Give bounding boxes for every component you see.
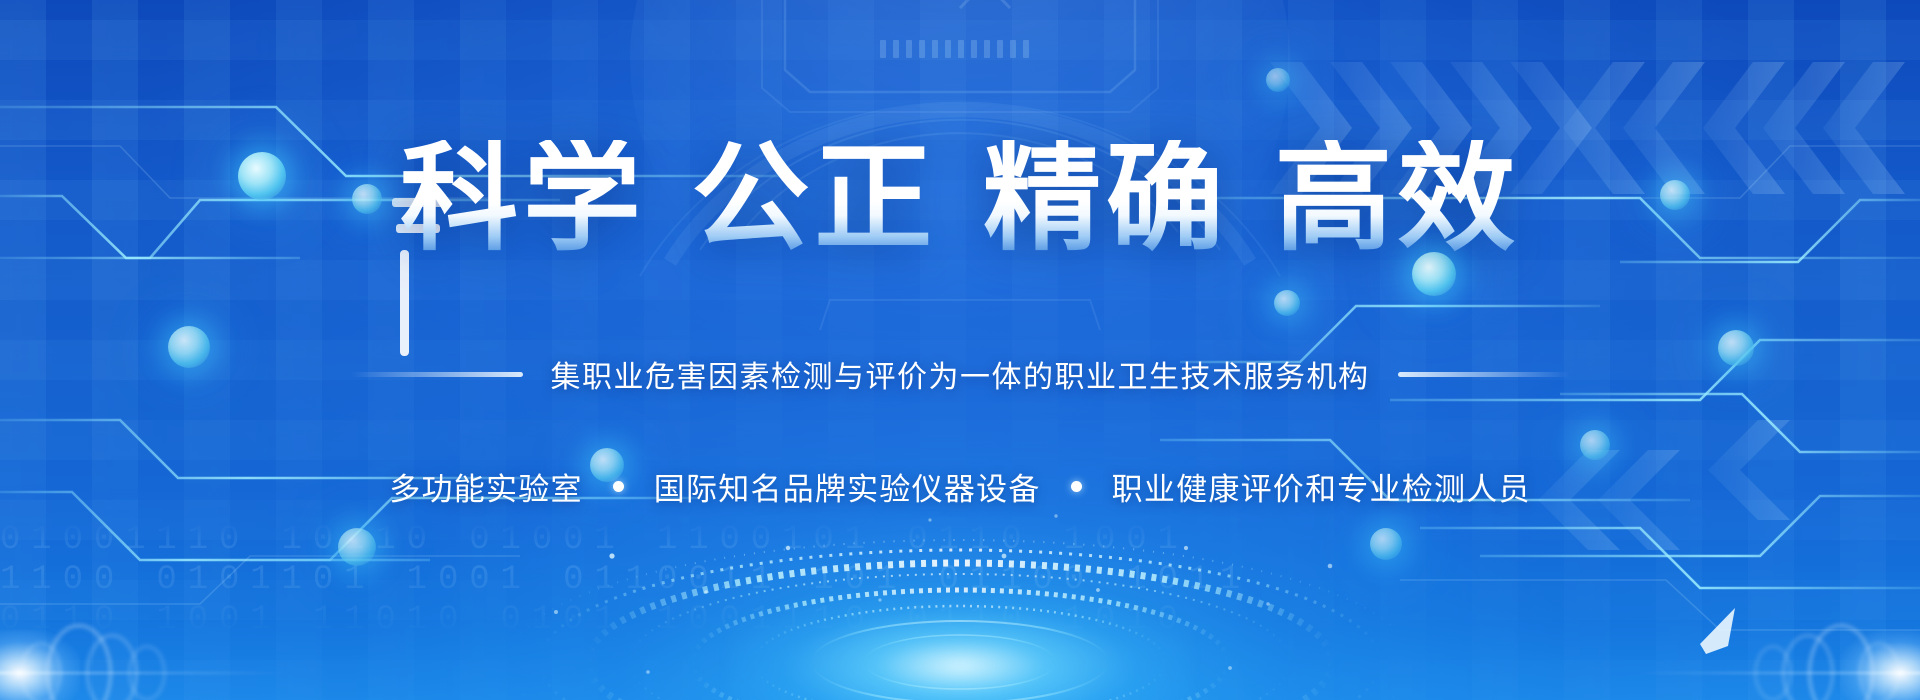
feature-item-3: 职业健康评价和专业检测人员 [1112,464,1531,509]
circuit-node-icon [338,528,376,566]
feature-item-2: 国际知名品牌实验仪器设备 [654,464,1041,509]
headline-word-1: 科学 [400,133,645,265]
banner-root: 01001110 10110 01001 1100101 0110 1001 1… [0,0,1920,700]
subtitle-rule-left [351,372,523,377]
circuit-node-icon [1274,290,1300,316]
subtitle-rule-right [1398,372,1570,377]
feature-separator-dot-icon [613,481,624,492]
banner-features-row: 多功能实验室 国际知名品牌实验仪器设备 职业健康评价和专业检测人员 [0,464,1920,509]
banner-subtitle: 集职业危害因素检测与评价为一体的职业卫生技术服务机构 [551,352,1370,396]
circuit-node-icon [1580,430,1610,460]
node-layer [0,0,1920,700]
feature-separator-dot-icon [1071,481,1082,492]
feature-item-1: 多功能实验室 [389,464,582,509]
banner-subtitle-row: 集职业危害因素检测与评价为一体的职业卫生技术服务机构 [0,352,1920,396]
headline-word-3: 精确 [983,133,1228,265]
circuit-node-icon [1266,68,1290,92]
circuit-node-icon [1370,528,1402,560]
headline-word-2: 公正 [692,133,937,265]
headline-word-4: 高效 [1274,133,1519,265]
banner-headline: 科学公正精确高效 [0,140,1920,258]
